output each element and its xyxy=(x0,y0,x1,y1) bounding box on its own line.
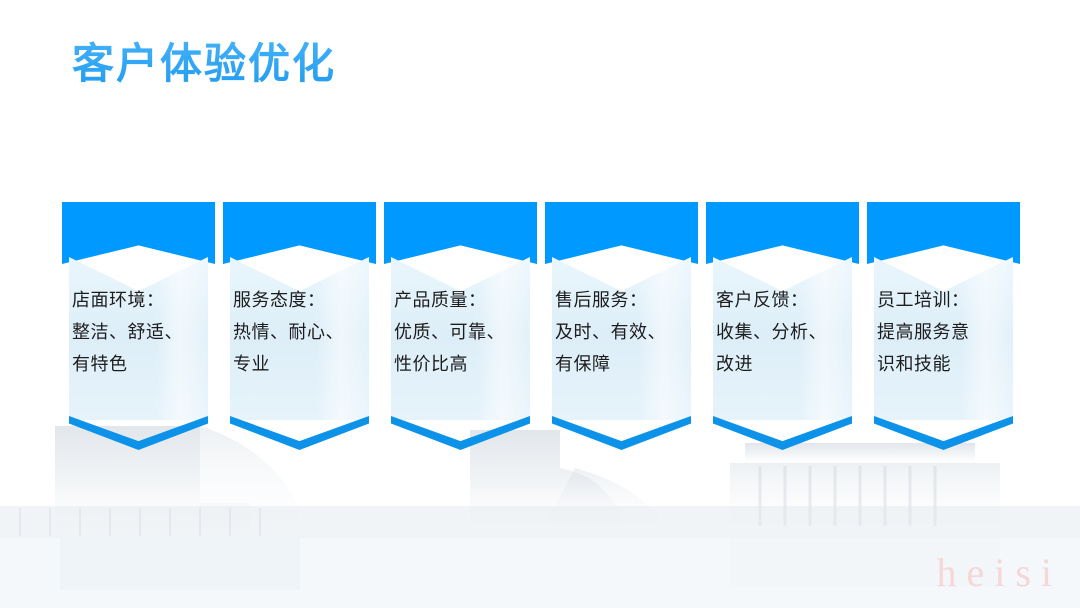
card-row: 店面环境： 整洁、舒适、 有特色 服务态度： 热情、耐心、 专业 产品质量： 优… xyxy=(62,202,1018,452)
card-text: 服务态度： 热情、耐心、 专业 xyxy=(233,284,363,380)
card-banner-icon xyxy=(706,202,859,264)
chevron-down-icon xyxy=(874,416,1013,450)
card-item[interactable]: 服务态度： 热情、耐心、 专业 xyxy=(223,202,376,452)
card-text: 客户反馈： 收集、分析、 改进 xyxy=(716,284,846,380)
card-item[interactable]: 产品质量： 优质、可靠、 性价比高 xyxy=(384,202,537,452)
card-text: 售后服务： 及时、有效、 有保障 xyxy=(555,284,685,380)
card-banner-icon xyxy=(62,202,215,264)
watermark-text: heisi xyxy=(936,549,1062,596)
card-text: 店面环境： 整洁、舒适、 有特色 xyxy=(72,284,202,380)
card-banner-icon xyxy=(223,202,376,264)
card-item[interactable]: 售后服务： 及时、有效、 有保障 xyxy=(545,202,698,452)
card-text: 员工培训： 提高服务意 识和技能 xyxy=(877,284,1007,380)
chevron-down-icon xyxy=(391,416,530,450)
card-item[interactable]: 店面环境： 整洁、舒适、 有特色 xyxy=(62,202,215,452)
card-item[interactable]: 客户反馈： 收集、分析、 改进 xyxy=(706,202,859,452)
card-banner-icon xyxy=(545,202,698,264)
card-text: 产品质量： 优质、可靠、 性价比高 xyxy=(394,284,524,380)
page-title: 客户体验优化 xyxy=(72,36,336,92)
chevron-down-icon xyxy=(552,416,691,450)
chevron-down-icon xyxy=(713,416,852,450)
card-banner-icon xyxy=(867,202,1020,264)
chevron-down-icon xyxy=(69,416,208,450)
chevron-down-icon xyxy=(230,416,369,450)
card-banner-icon xyxy=(384,202,537,264)
card-item[interactable]: 员工培训： 提高服务意 识和技能 xyxy=(867,202,1020,452)
slide-canvas: 客户体验优化 店面环境： 整洁、舒适、 有特色 服务态度： 热情、耐心、 专业 … xyxy=(0,0,1080,608)
